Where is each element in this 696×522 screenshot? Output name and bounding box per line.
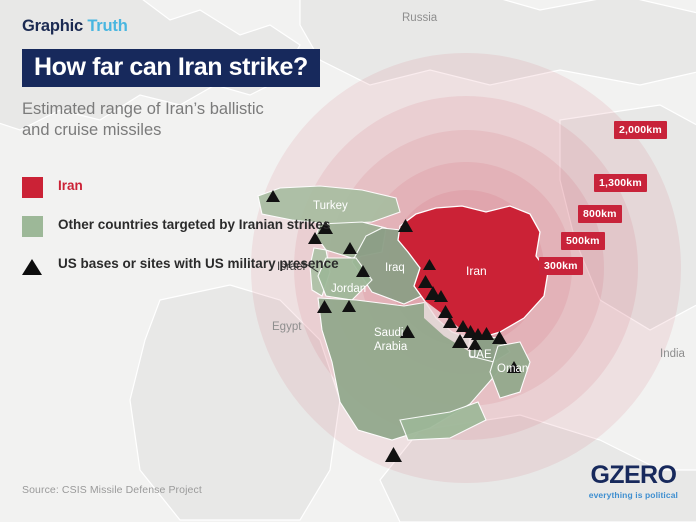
- badge-500km: 500km: [561, 232, 605, 250]
- legend-label-us-bases: US bases or sites with US military prese…: [58, 254, 339, 273]
- badge-800km: 800km: [578, 205, 622, 223]
- legend-label-iran: Iran: [58, 176, 83, 195]
- header-block: Graphic Truth How far can Iran strike? E…: [22, 18, 320, 141]
- graphic-truth-logo: Graphic Truth: [22, 18, 320, 35]
- black-triangle-icon: [22, 256, 43, 277]
- badge-1300km: 1,300km: [594, 174, 647, 192]
- badge-2000km: 2,000km: [614, 121, 667, 139]
- logo-word-graphic: Graphic: [22, 17, 83, 35]
- gzero-wordmark: GZERO: [589, 463, 678, 488]
- logo-word-truth: Truth: [87, 17, 127, 35]
- gzero-logo: GZERO everything is political: [589, 463, 678, 500]
- badge-300km: 300km: [539, 257, 583, 275]
- legend-item-targeted-countries: Other countries targeted by Iranian stri…: [22, 215, 339, 237]
- legend-label-targeted: Other countries targeted by Iranian stri…: [58, 215, 330, 234]
- legend-item-iran: Iran: [22, 176, 339, 198]
- source-note: Source: CSIS Missile Defense Project: [22, 484, 202, 496]
- legend-item-us-bases: US bases or sites with US military prese…: [22, 254, 339, 277]
- green-square-icon: [22, 216, 43, 237]
- map-legend: Iran Other countries targeted by Iranian…: [22, 176, 339, 277]
- gzero-tagline: everything is political: [589, 490, 678, 500]
- page-title: How far can Iran strike?: [22, 49, 320, 87]
- page-subtitle: Estimated range of Iran’s ballistic and …: [22, 99, 272, 141]
- infographic-canvas: Graphic Truth How far can Iran strike? E…: [0, 0, 696, 522]
- red-square-icon: [22, 177, 43, 198]
